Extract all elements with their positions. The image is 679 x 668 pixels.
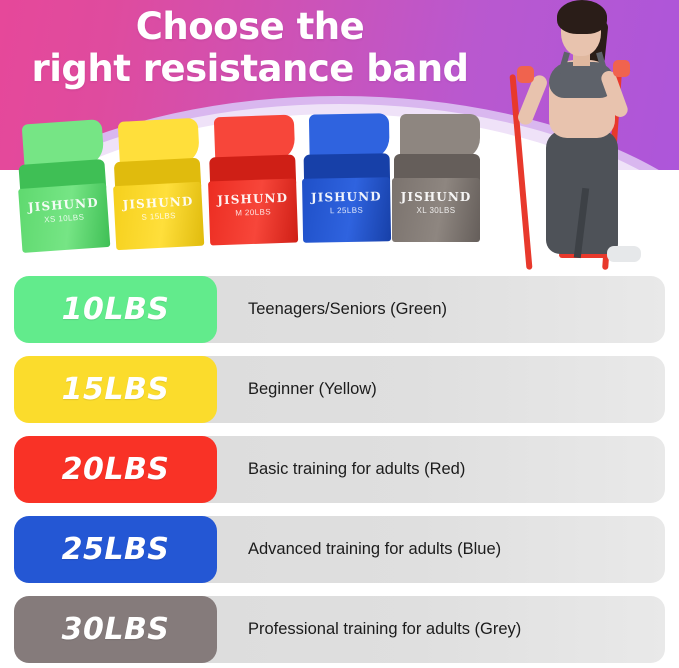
band-size-label: XL 30LBS xyxy=(392,206,480,215)
title-line-2: right resistance band xyxy=(0,48,500,90)
level-description: Basic training for adults (Red) xyxy=(248,436,465,503)
resistance-band-infographic: Choose the right resistance band JISHUND xyxy=(0,0,679,668)
band-brand-label: JISHUND xyxy=(392,190,480,204)
page-title: Choose the right resistance band xyxy=(0,6,500,90)
title-line-1: Choose the xyxy=(136,5,364,48)
list-item: 30LBS Professional training for adults (… xyxy=(0,596,679,663)
band-photo-strip: JISHUND XS 10LBS JISHUND S 15LBS JISHUND… xyxy=(0,108,500,268)
weight-badge-25lbs: 25LBS xyxy=(14,516,217,583)
weight-label: 25LBS xyxy=(14,532,217,567)
weight-badge-30lbs: 30LBS xyxy=(14,596,217,663)
list-item: 10LBS Teenagers/Seniors (Green) xyxy=(0,276,679,343)
weight-label: 30LBS xyxy=(14,612,217,647)
band-handle-left xyxy=(517,66,534,83)
band-handle-right xyxy=(613,60,630,77)
weight-badge-10lbs: 10LBS xyxy=(14,276,217,343)
list-item: 25LBS Advanced training for adults (Blue… xyxy=(0,516,679,583)
weight-badge-15lbs: 15LBS xyxy=(14,356,217,423)
model-shoe xyxy=(607,246,641,262)
band-photo-l: JISHUND L 25LBS xyxy=(301,113,391,243)
level-description: Professional training for adults (Grey) xyxy=(248,596,521,663)
level-description: Advanced training for adults (Blue) xyxy=(248,516,501,583)
band-size-label: L 25LBS xyxy=(302,205,390,216)
resistance-level-list: 10LBS Teenagers/Seniors (Green) 15LBS Be… xyxy=(0,276,679,668)
band-photo-xs: JISHUND XS 10LBS xyxy=(14,119,111,253)
level-description: Beginner (Yellow) xyxy=(248,356,377,423)
weight-label: 15LBS xyxy=(14,372,217,407)
level-description: Teenagers/Seniors (Green) xyxy=(248,276,447,343)
model-photo xyxy=(489,0,679,272)
band-brand-label: JISHUND xyxy=(302,189,390,205)
list-item: 15LBS Beginner (Yellow) xyxy=(0,356,679,423)
model-hair xyxy=(557,0,607,34)
weight-label: 20LBS xyxy=(14,452,217,487)
band-photo-s: JISHUND S 15LBS xyxy=(110,118,205,250)
weight-label: 10LBS xyxy=(14,292,217,327)
band-photo-m: JISHUND M 20LBS xyxy=(206,115,298,246)
weight-badge-20lbs: 20LBS xyxy=(14,436,217,503)
band-photo-xl: JISHUND XL 30LBS xyxy=(392,114,480,242)
list-item: 20LBS Basic training for adults (Red) xyxy=(0,436,679,503)
